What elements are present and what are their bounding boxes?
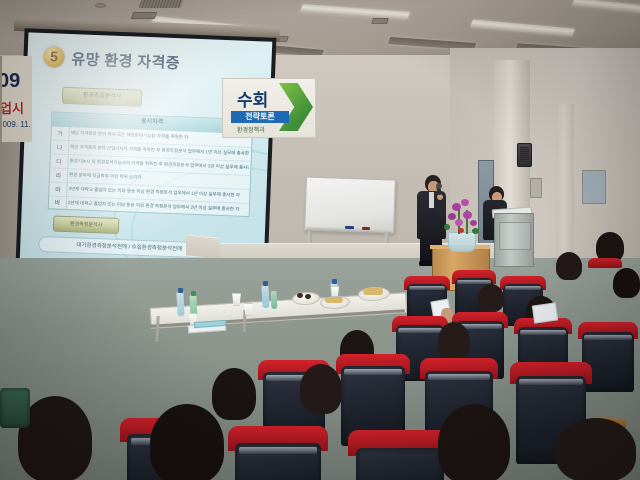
banner-left: 09 업시 2009. 11. [0, 56, 32, 142]
row-key: 나 [51, 139, 70, 154]
row-key: 가 [51, 125, 70, 140]
audience-person [438, 322, 470, 360]
slide-subtitle-pill: 환경측정분석사 [62, 87, 143, 107]
bottle-cap [178, 288, 183, 293]
row-key: 마 [49, 181, 68, 196]
presenter-shirt [429, 192, 434, 208]
orchid-bloom [463, 211, 472, 219]
microphone-head [436, 183, 442, 189]
seat-headrest [588, 258, 622, 268]
whiteboard-marker [362, 227, 370, 230]
banner-right-sub: 환경정책과 [237, 125, 265, 134]
snack-item [363, 288, 383, 295]
water-bottle [176, 292, 184, 316]
foliage [472, 228, 479, 234]
audience-person-foreground [556, 418, 636, 480]
projection-screen-frame: 5 유망 환경 자격증 환경측정분석사 응시자격 가 해당 자격종목 분야 학사… [16, 28, 277, 273]
orchid-bloom [448, 213, 456, 220]
banner-right-title: 수회 [237, 86, 268, 111]
wall-speaker [517, 143, 532, 167]
snack-item [297, 293, 303, 298]
row-key: 다 [50, 153, 69, 168]
orchid-bloom [461, 199, 469, 206]
banner-right-band: 전략토론 [231, 111, 289, 123]
slide-badge-number: 5 [43, 46, 65, 68]
snack-item [305, 294, 311, 299]
stage-step [186, 234, 220, 259]
water-bottle [261, 285, 269, 308]
lectern-front-panel [499, 222, 531, 250]
audience-handout [532, 302, 558, 323]
wall-notice-board [582, 170, 606, 204]
projection-screen: 5 유망 환경 자격증 환경측정분석사 응시자격 가 해당 자격종목 분야 학사… [20, 32, 273, 269]
ceiling-grille [139, 0, 184, 8]
row-key: 라 [50, 167, 69, 182]
lectern [494, 213, 534, 267]
banner-left-line2: 업시 [0, 98, 24, 117]
audience-person [478, 284, 504, 312]
water-bottle [271, 291, 278, 309]
banner-right: 수회 전략토론 환경정책과 [222, 78, 316, 138]
wall-plate [530, 178, 542, 198]
ceiling-vent [131, 12, 158, 19]
orchid-bloom [452, 203, 461, 211]
ceiling-lamp [300, 4, 410, 20]
bottle-cap [263, 281, 268, 286]
whiteboard-marker [345, 226, 354, 229]
whiteboard [304, 176, 396, 233]
foliage [444, 224, 450, 230]
audience-person [556, 252, 582, 280]
audience-person [613, 268, 640, 298]
banner-chevron-graphic [279, 83, 313, 131]
orchid-bloom [470, 220, 477, 226]
ceiling-lamp [470, 19, 575, 36]
orchid-bloom [455, 219, 463, 226]
snack-item [325, 297, 343, 303]
bottle-cap [332, 279, 337, 284]
ceiling-vent [371, 18, 389, 24]
ceiling-spot-light [95, 3, 106, 8]
banner-left-line1: 09 [0, 70, 20, 93]
audience-person [212, 368, 256, 420]
row-key: 바 [49, 195, 67, 209]
audience-person-foreground [150, 404, 224, 480]
flower-vase [448, 232, 476, 252]
slide-lower-pill: 환경측정분석사 [53, 215, 120, 234]
accent-flower [458, 228, 464, 233]
bottle-cap [191, 291, 196, 296]
slide-title: 유망 환경 자격증 [71, 48, 180, 73]
banner-left-line3: 2009. 11. [0, 120, 31, 129]
ceiling-lamp [572, 0, 640, 14]
photo-scene: 5 유망 환경 자격증 환경측정분석사 응시자격 가 해당 자격종목 분야 학사… [0, 0, 640, 480]
audience-person-foreground [438, 404, 510, 480]
audience-person [300, 364, 342, 414]
